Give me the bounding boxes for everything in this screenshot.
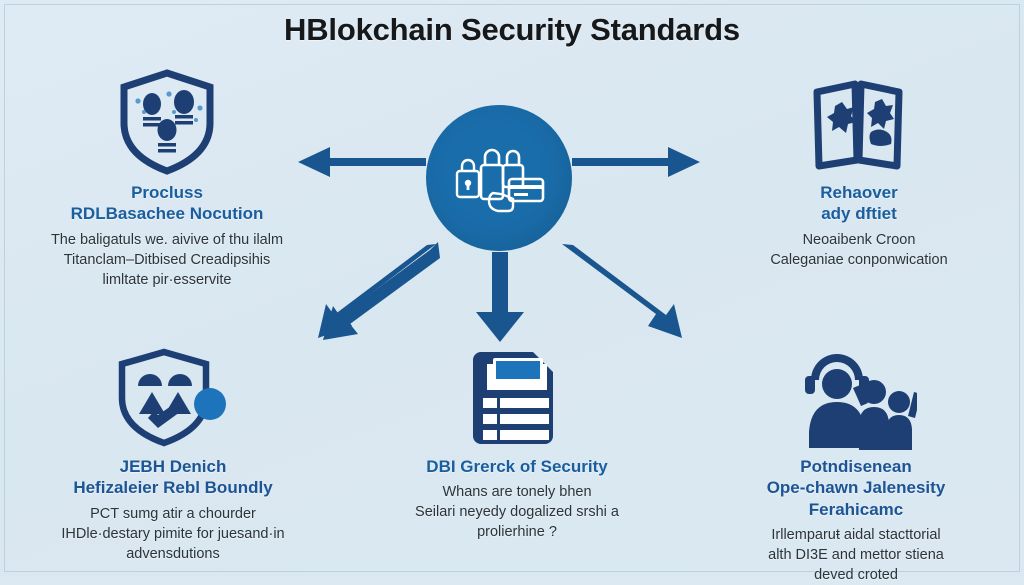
node-top-left-body-line2: Titanclam–Ditbised Creadipsihis (8, 250, 326, 270)
node-bottom-center-body: Whans are tonely bhen Seilari neyedy dog… (352, 482, 682, 542)
node-bottom-right-heading: Potndisenean Ope-chawn Jalenesity Ferahi… (694, 456, 1018, 520)
infographic-canvas: HBlokchain Security Standards (0, 0, 1024, 576)
node-top-left-heading: Procluss RDLBasachee Nocution (8, 182, 326, 225)
document-list-icon (467, 346, 567, 450)
node-bottom-right[interactable]: Potndisenean Ope-chawn Jalenesity Ferahi… (694, 338, 1018, 585)
node-bottom-left-body: PCT sumg atir a chourder IHDle·destary p… (8, 504, 338, 564)
arrow-to-top-right (572, 140, 702, 184)
arrow-to-bottom-center (474, 252, 526, 344)
node-bottom-left-body-line1: PCT sumg atir a chourder (8, 504, 338, 524)
node-top-left-body: The baligatuls we. aivive of thu ilalm T… (8, 230, 326, 290)
node-bottom-right-body-line3: deved croted (694, 565, 1018, 585)
node-top-left-body-line3: limltate pir·esservite (8, 270, 326, 290)
node-top-right-heading-line2: ady dftiet (700, 203, 1018, 224)
node-top-right-heading-line1: Rehaover (700, 182, 1018, 203)
node-bottom-right-heading-line2: Ope-chawn Jalenesity (694, 477, 1018, 498)
node-top-right[interactable]: Rehaover ady dftiet Neoaibenk Croon Cale… (700, 64, 1018, 270)
node-bottom-center-icon-wrap (352, 338, 682, 450)
node-top-left-heading-line1: Procluss (8, 182, 326, 203)
node-bottom-center-heading: DBI Grerck of Security (352, 456, 682, 477)
two-cards-icon (805, 76, 913, 176)
people-group-icon (795, 350, 917, 450)
shield-check-icon (114, 346, 232, 450)
node-top-left-body-line1: The baligatuls we. aivive of thu ilalm (8, 230, 326, 250)
node-top-left-heading-line2: RDLBasachee Nocution (8, 203, 326, 224)
node-bottom-right-heading-line1: Potndisenean (694, 456, 1018, 477)
node-bottom-right-body-line2: alth DI3E and mettor stiena (694, 545, 1018, 565)
node-bottom-center[interactable]: DBI Grerck of Security Whans are tonely … (352, 338, 682, 542)
node-top-right-body-line2: Caleganiae conponwication (700, 250, 1018, 270)
node-bottom-center-body-line3: prolierhine ? (352, 522, 682, 542)
node-top-right-body-line1: Neoaibenk Croon (700, 230, 1018, 250)
node-bottom-left-body-line2: IHDle·destary pimite for juesand·in (8, 524, 338, 544)
node-bottom-left-icon-wrap (8, 338, 338, 450)
page-title: HBlokchain Security Standards (0, 12, 1024, 48)
node-top-right-heading: Rehaover ady dftiet (700, 182, 1018, 225)
node-bottom-center-body-line2: Seilari neyedy dogalized srshi a (352, 502, 682, 522)
central-hub[interactable] (426, 105, 572, 251)
node-bottom-left-heading: JEBH Denich Hefizaleier Rebl Boundly (8, 456, 338, 499)
node-bottom-center-body-line1: Whans are tonely bhen (352, 482, 682, 502)
node-bottom-left-body-line3: advensdutions (8, 544, 338, 564)
arrow-to-bottom-right (560, 242, 700, 342)
node-top-left-icon-wrap (8, 64, 326, 176)
node-top-left[interactable]: Procluss RDLBasachee Nocution The baliga… (8, 64, 326, 290)
node-bottom-left-heading-line1: JEBH Denich (8, 456, 338, 477)
node-bottom-right-heading-line3: Ferahicamc (694, 499, 1018, 520)
padlock-and-card-icon (453, 141, 545, 215)
shield-network-icon (114, 68, 220, 176)
node-bottom-left-heading-line2: Hefizaleier Rebl Boundly (8, 477, 338, 498)
node-bottom-center-heading-line1: DBI Grerck of Security (352, 456, 682, 477)
node-bottom-right-icon-wrap (694, 338, 1018, 450)
node-bottom-right-body-line1: Irllemparuŧ aidal stacttorial (694, 525, 1018, 545)
node-bottom-left[interactable]: JEBH Denich Hefizaleier Rebl Boundly PCT… (8, 338, 338, 564)
node-top-right-body: Neoaibenk Croon Caleganiae conponwicatio… (700, 230, 1018, 270)
node-top-right-icon-wrap (700, 64, 1018, 176)
